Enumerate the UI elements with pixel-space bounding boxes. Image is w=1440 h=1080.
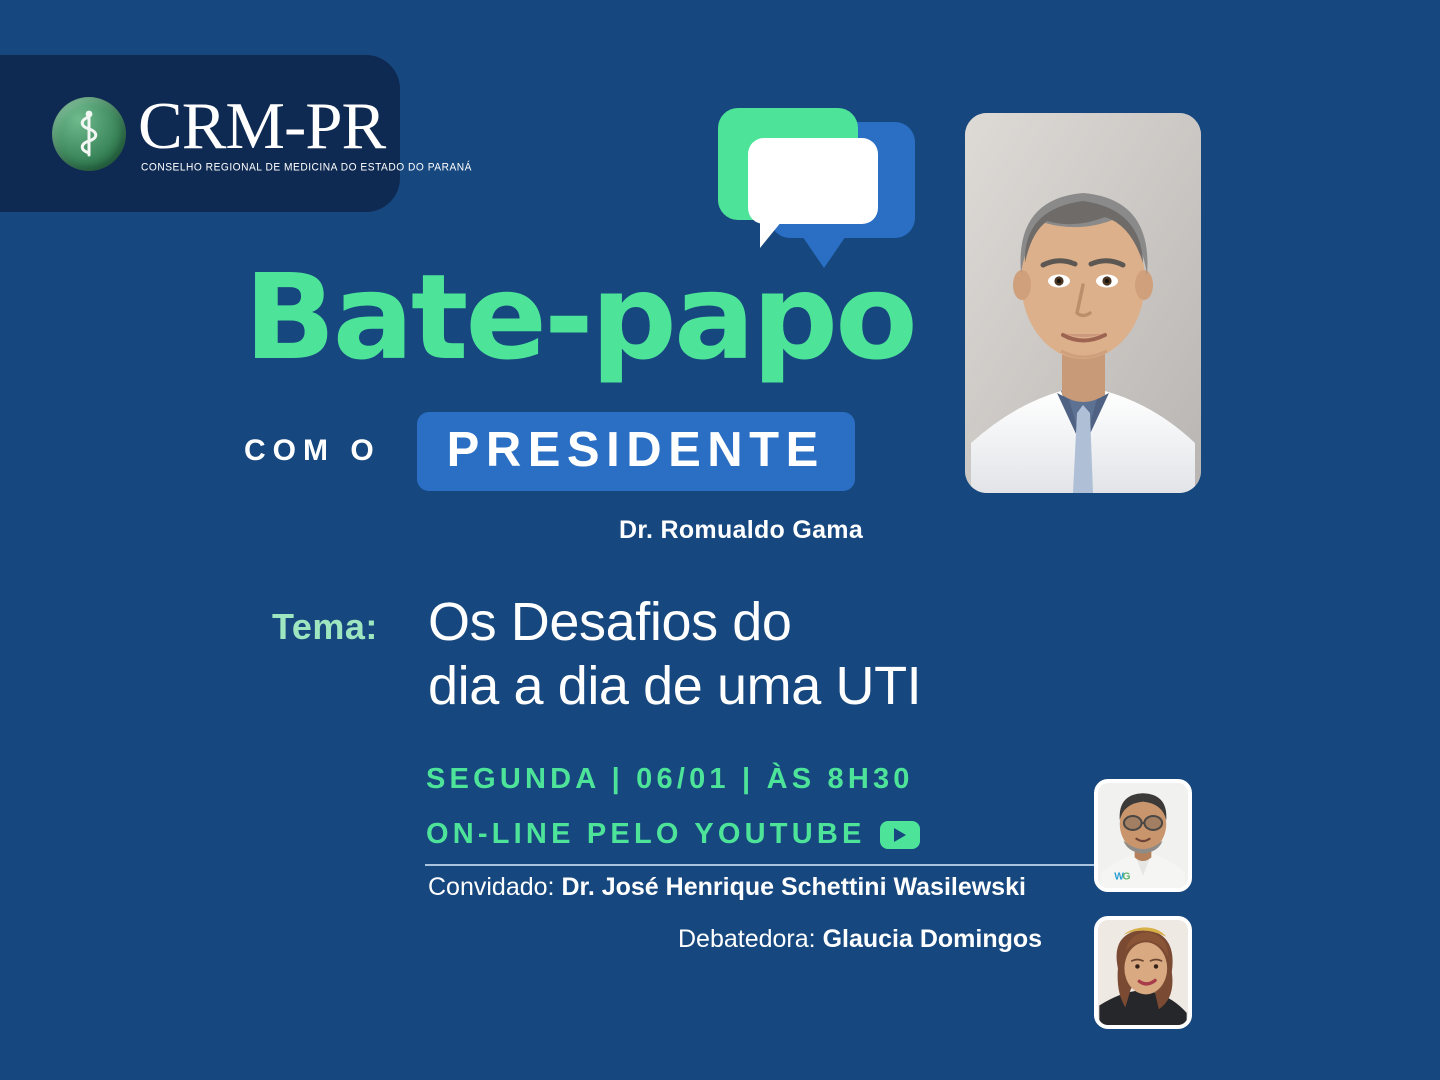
president-name: Dr. Romualdo Gama — [619, 516, 863, 545]
youtube-play-icon[interactable] — [880, 821, 920, 849]
guest-label: Convidado: — [428, 873, 554, 901]
debater-credit: Debatedora: Glaucia Domingos — [678, 925, 1042, 954]
logo-wordmark: CRM-PR — [138, 94, 472, 158]
schedule-channel-label: ON-LINE PELO YOUTUBE — [426, 818, 866, 851]
avatar-guest: W G — [1094, 779, 1192, 892]
speech-bubble-white — [748, 138, 878, 224]
asclepius-staff-emblem-icon — [52, 97, 126, 171]
svg-text:G: G — [1123, 872, 1131, 883]
event-poster: CRM-PR CONSELHO REGIONAL DE MEDICINA DO … — [0, 0, 1440, 1080]
theme-label: Tema: — [272, 606, 378, 648]
crm-pr-logo-badge: CRM-PR CONSELHO REGIONAL DE MEDICINA DO … — [0, 55, 400, 212]
avatar-debater — [1094, 916, 1192, 1029]
schedule-channel: ON-LINE PELO YOUTUBE — [426, 818, 920, 851]
presidente-badge: PRESIDENTE — [417, 412, 855, 491]
speech-bubble-white-tail — [760, 216, 786, 248]
schedule-date: SEGUNDA | 06/01 | ÀS 8H30 — [426, 763, 914, 796]
guest-name: Dr. José Henrique Schettini Wasilewski — [561, 873, 1026, 901]
debater-label: Debatedora: — [678, 925, 816, 953]
portrait-romualdo-gama — [965, 113, 1201, 493]
logo-subtitle: CONSELHO REGIONAL DE MEDICINA DO ESTADO … — [141, 162, 472, 174]
subtitle-prefix: COM O — [244, 434, 381, 468]
theme-text: Os Desafios do dia a dia de uma UTI — [428, 591, 921, 718]
page-title: Bate-papo — [244, 258, 915, 376]
credits-divider — [425, 864, 1100, 866]
guest-credit: Convidado: Dr. José Henrique Schettini W… — [428, 873, 1026, 902]
subtitle-row: COM O PRESIDENTE — [244, 412, 855, 490]
debater-name: Glaucia Domingos — [823, 925, 1042, 953]
